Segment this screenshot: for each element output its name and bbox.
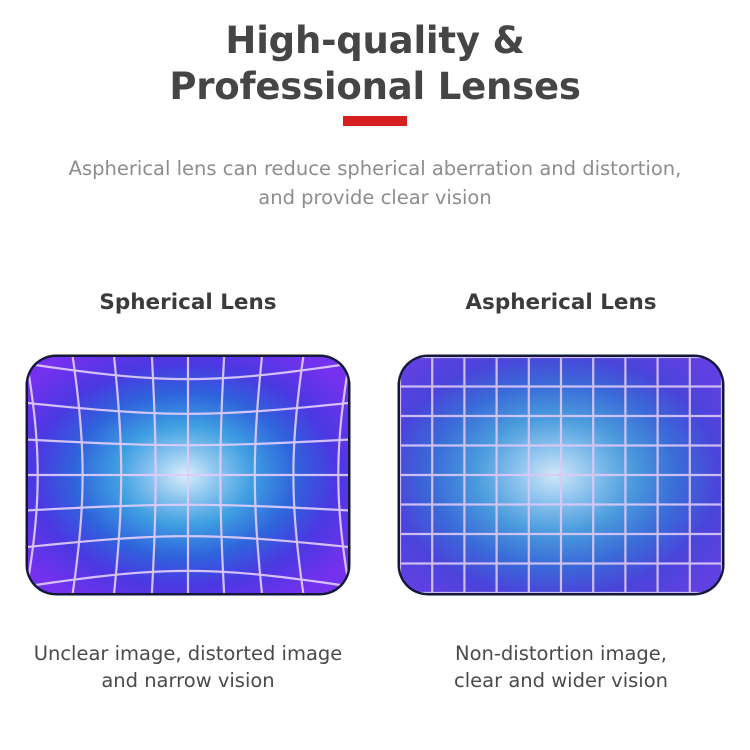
caption-aspherical: Non-distortion image, clear and wider vi… xyxy=(400,640,722,694)
caption-aspherical-line-2: clear and wider vision xyxy=(400,667,722,694)
page-title-line-2: Professional Lenses xyxy=(0,64,750,110)
accent-bar-container xyxy=(0,116,750,126)
caption-spherical-line-2: and narrow vision xyxy=(28,667,348,694)
lens-comparison-page: High-quality & Professional Lenses Asphe… xyxy=(0,0,750,750)
lens-image-aspherical xyxy=(400,357,722,593)
caption-aspherical-line-1: Non-distortion image, xyxy=(400,640,722,667)
column-aspherical-lens: Aspherical Lens xyxy=(400,288,722,318)
page-subtitle-line-1: Aspherical lens can reduce spherical abe… xyxy=(0,154,750,183)
page-title: High-quality & Professional Lenses xyxy=(0,18,750,110)
column-heading-spherical: Spherical Lens xyxy=(28,288,348,318)
column-spherical-lens: Spherical Lens xyxy=(28,288,348,318)
page-subtitle-line-2: and provide clear vision xyxy=(0,183,750,212)
caption-spherical-line-1: Unclear image, distorted image xyxy=(28,640,348,667)
caption-spherical: Unclear image, distorted image and narro… xyxy=(28,640,348,694)
column-heading-aspherical: Aspherical Lens xyxy=(400,288,722,318)
lens-image-spherical xyxy=(28,357,348,593)
header: High-quality & Professional Lenses xyxy=(0,18,750,110)
red-accent-bar xyxy=(343,116,407,126)
page-title-line-1: High-quality & xyxy=(0,18,750,64)
page-subtitle: Aspherical lens can reduce spherical abe… xyxy=(0,154,750,212)
